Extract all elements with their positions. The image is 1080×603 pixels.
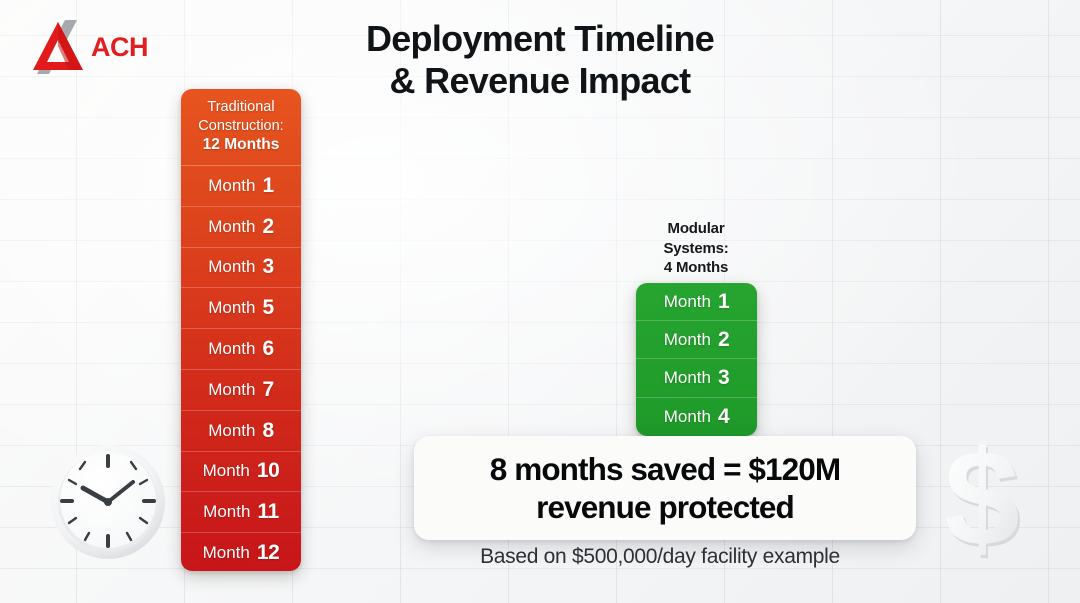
traditional-month-word: Month bbox=[208, 380, 255, 400]
footnote-text: Based on $500,000/day facility example bbox=[330, 545, 990, 569]
modular-systems-bar: Month1Month2Month3Month4 bbox=[636, 283, 757, 436]
wall-clock-icon bbox=[47, 441, 169, 563]
traditional-month-number: 11 bbox=[257, 500, 278, 524]
modular-month-word: Month bbox=[664, 368, 711, 388]
savings-callout-line2: revenue protected bbox=[536, 488, 794, 526]
traditional-month-number: 1 bbox=[262, 174, 273, 198]
traditional-month-row: Month10 bbox=[181, 452, 301, 493]
brand-logo-text: ACH bbox=[91, 32, 148, 63]
savings-callout-line1: 8 months saved = $120M bbox=[490, 450, 841, 488]
traditional-month-number: 8 bbox=[262, 419, 273, 443]
dollar-sign-icon: $ $ bbox=[925, 436, 1043, 568]
modular-month-word: Month bbox=[664, 292, 711, 312]
traditional-month-number: 12 bbox=[257, 541, 280, 565]
traditional-month-number: 3 bbox=[262, 255, 273, 279]
traditional-month-row: Month11 bbox=[181, 492, 301, 533]
svg-text:$: $ bbox=[944, 436, 1020, 568]
traditional-month-word: Month bbox=[208, 176, 255, 196]
modular-month-number: 2 bbox=[718, 328, 729, 352]
traditional-month-word: Month bbox=[208, 421, 255, 441]
traditional-month-number: 10 bbox=[257, 459, 280, 483]
modular-label-line1: Modular bbox=[620, 219, 772, 239]
traditional-header-value: 12 Months bbox=[187, 135, 295, 155]
traditional-construction-bar: Traditional Construction: 12 Months Mont… bbox=[181, 89, 301, 571]
savings-callout: 8 months saved = $120M revenue protected bbox=[414, 436, 916, 540]
traditional-month-row: Month6 bbox=[181, 329, 301, 370]
traditional-month-number: 6 bbox=[262, 337, 273, 361]
modular-month-number: 1 bbox=[718, 290, 729, 314]
traditional-month-row: Month12 bbox=[181, 533, 301, 571]
modular-month-word: Month bbox=[664, 330, 711, 350]
page-title: Deployment Timeline & Revenue Impact bbox=[260, 18, 820, 102]
traditional-month-row: Month7 bbox=[181, 370, 301, 411]
traditional-month-number: 2 bbox=[262, 215, 273, 239]
traditional-month-word: Month bbox=[208, 298, 255, 318]
modular-month-row: Month3 bbox=[636, 359, 757, 397]
traditional-month-number: 5 bbox=[262, 296, 273, 320]
modular-month-word: Month bbox=[664, 407, 711, 427]
modular-label-line3: 4 Months bbox=[620, 258, 772, 278]
traditional-month-word: Month bbox=[208, 339, 255, 359]
traditional-month-row: Month8 bbox=[181, 411, 301, 452]
traditional-month-word: Month bbox=[208, 217, 255, 237]
traditional-month-row: Month2 bbox=[181, 207, 301, 248]
traditional-bar-header: Traditional Construction: 12 Months bbox=[181, 89, 301, 166]
traditional-month-row: Month3 bbox=[181, 248, 301, 289]
traditional-month-word: Month bbox=[203, 502, 250, 522]
traditional-month-word: Month bbox=[203, 543, 250, 563]
modular-month-row: Month4 bbox=[636, 398, 757, 436]
traditional-month-row: Month1 bbox=[181, 166, 301, 207]
traditional-month-row: Month5 bbox=[181, 288, 301, 329]
traditional-month-word: Month bbox=[203, 461, 250, 481]
modular-month-row: Month1 bbox=[636, 283, 757, 321]
brand-logo: ACH bbox=[25, 16, 185, 78]
modular-month-number: 4 bbox=[718, 405, 729, 429]
modular-label-line2: Systems: bbox=[620, 239, 772, 259]
modular-month-number: 3 bbox=[718, 366, 729, 390]
modular-month-row: Month2 bbox=[636, 321, 757, 359]
page-title-line2: & Revenue Impact bbox=[260, 60, 820, 102]
modular-systems-label: Modular Systems: 4 Months bbox=[620, 219, 772, 278]
traditional-month-list: Month1Month2Month3Month5Month6Month7Mont… bbox=[181, 166, 301, 571]
traditional-header-line1: Traditional bbox=[187, 98, 295, 117]
traditional-header-line2: Construction: bbox=[187, 117, 295, 136]
traditional-month-word: Month bbox=[208, 257, 255, 277]
page-title-line1: Deployment Timeline bbox=[260, 18, 820, 60]
modular-month-list: Month1Month2Month3Month4 bbox=[636, 283, 757, 436]
ach-triangle-logo-icon bbox=[25, 18, 87, 76]
traditional-month-number: 7 bbox=[262, 378, 273, 402]
